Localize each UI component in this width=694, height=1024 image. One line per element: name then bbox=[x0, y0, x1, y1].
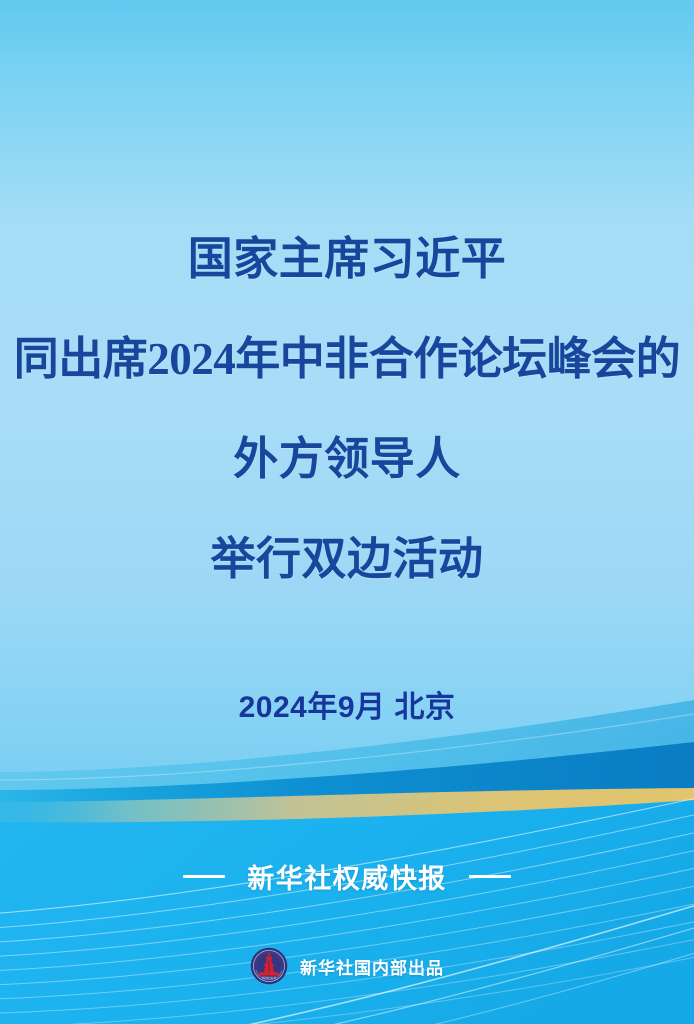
headline-line-4: 举行双边活动 bbox=[6, 522, 688, 596]
wave-band-cyan bbox=[0, 800, 694, 1024]
credit-row: XINHUA 新华社国内部出品 bbox=[0, 947, 694, 985]
banner-right-rule-icon bbox=[469, 875, 511, 878]
date-location-subtitle: 2024年9月 北京 bbox=[0, 682, 694, 726]
brand-banner: 新华社权威快报 bbox=[0, 857, 694, 896]
banner-label: 新华社权威快报 bbox=[247, 857, 447, 896]
headline-block: 国家主席习近平 同出席2024年中非合作论坛峰会的 外方领导人 举行双边活动 bbox=[0, 222, 694, 596]
credit-label: 新华社国内部出品 bbox=[300, 954, 444, 979]
headline-line-1: 国家主席习近平 bbox=[6, 222, 688, 296]
banner-left-rule-icon bbox=[183, 875, 225, 878]
headline-line-3: 外方领导人 bbox=[6, 422, 688, 496]
wave-line-fan bbox=[0, 784, 694, 1024]
xinhua-agency-emblem-icon: XINHUA bbox=[250, 947, 288, 985]
news-poster: 国家主席习近平 同出席2024年中非合作论坛峰会的 外方领导人 举行双边活动 2… bbox=[0, 0, 694, 1024]
svg-text:XINHUA: XINHUA bbox=[262, 976, 277, 980]
headline-line-2: 同出席2024年中非合作论坛峰会的 bbox=[6, 322, 688, 396]
